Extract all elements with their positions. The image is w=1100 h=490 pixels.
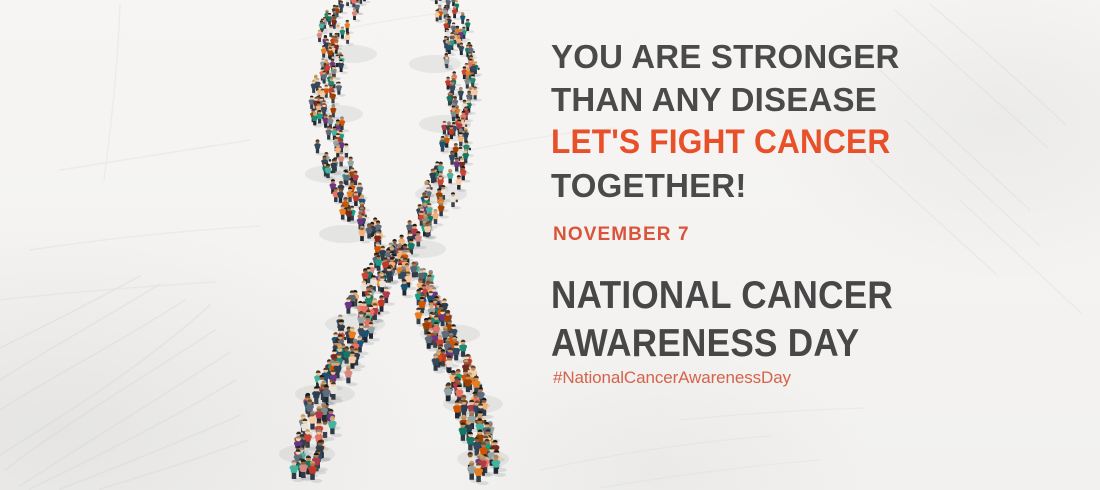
headline-accent-line: LET'S FIGHT CANCER — [551, 121, 890, 164]
event-title-line-1: NATIONAL CANCER — [551, 272, 893, 320]
awareness-ribbon-graphic — [245, 0, 545, 490]
headline-line-2: THAN ANY DISEASE — [551, 78, 916, 121]
headline-line-1: YOU ARE STRONGER — [551, 35, 916, 78]
event-title-line-2: AWARENESS DAY — [551, 320, 893, 368]
event-date: NOVEMBER 7 — [553, 224, 690, 246]
ribbon-people-illustration — [245, 0, 545, 490]
text-column: YOU ARE STRONGER THAN ANY DISEASE LET'S … — [551, 0, 981, 490]
hashtag-label: #NationalCancerAwarenessDay — [553, 368, 791, 388]
headline-block: YOU ARE STRONGER THAN ANY DISEASE LET'S … — [551, 35, 916, 207]
poster-canvas: YOU ARE STRONGER THAN ANY DISEASE LET'S … — [0, 0, 1100, 490]
headline-line-4: TOGETHER! — [551, 164, 916, 207]
event-title-block: NATIONAL CANCER AWARENESS DAY — [551, 272, 931, 368]
